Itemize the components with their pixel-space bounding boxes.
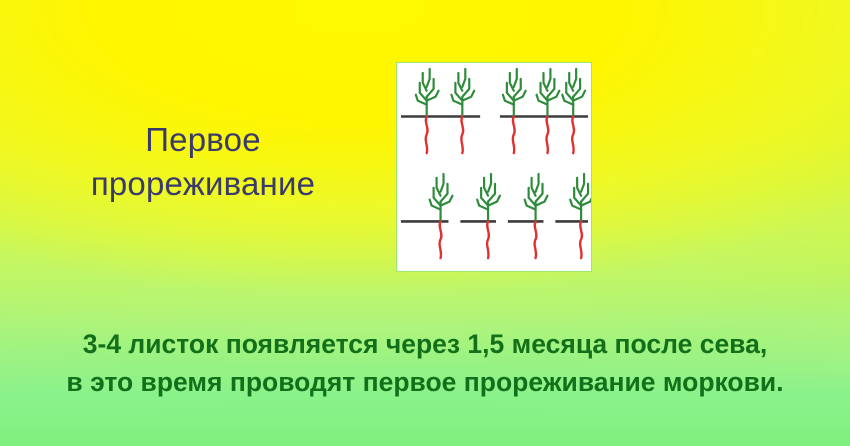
- seedling: [503, 69, 526, 153]
- seedling: [416, 69, 439, 153]
- seedling: [451, 69, 474, 153]
- diagram-svg: [397, 63, 591, 271]
- diagram-row-before-thinning: [401, 69, 588, 153]
- seedling: [562, 69, 585, 153]
- seedling-group-top: [416, 69, 585, 153]
- page-title: Первое прореживание: [28, 118, 378, 205]
- caption-line-1: 3-4 листок появляется через 1,5 месяца п…: [0, 326, 850, 364]
- seedling: [570, 174, 591, 258]
- seedling: [477, 174, 500, 258]
- diagram-row-after-thinning: [401, 174, 591, 258]
- seedling: [430, 174, 453, 258]
- seedling: [537, 69, 560, 153]
- caption-line-2: в это время проводят первое прореживание…: [0, 364, 850, 402]
- seedling: [525, 174, 548, 258]
- page-title-line-1: Первое: [28, 118, 378, 162]
- slide-canvas: Первое прореживание: [0, 0, 850, 446]
- page-title-line-2: прореживание: [28, 162, 378, 206]
- seedling-group-bottom: [430, 174, 591, 258]
- caption-text: 3-4 листок появляется через 1,5 месяца п…: [0, 326, 850, 401]
- carrot-thinning-diagram: [396, 62, 592, 272]
